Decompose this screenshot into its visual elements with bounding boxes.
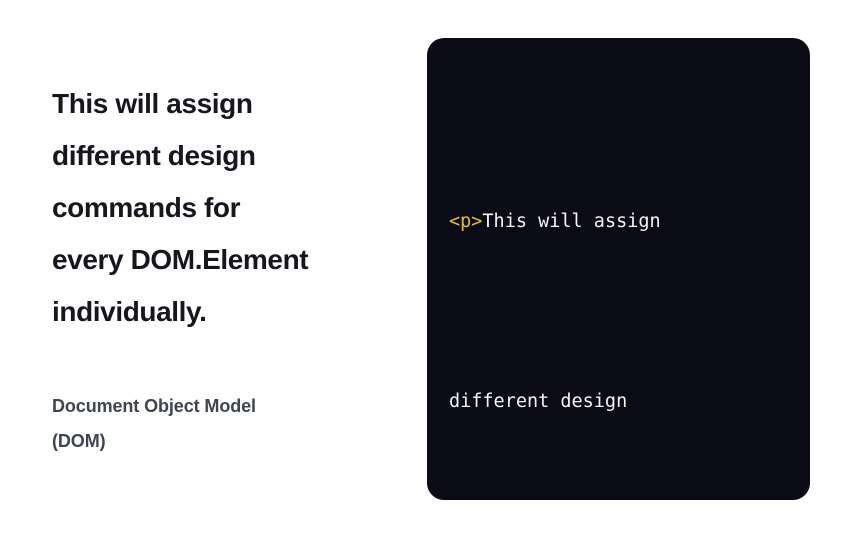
code-text: This will assign xyxy=(482,211,660,232)
left-text-column: This will assign different design comman… xyxy=(52,78,392,459)
code-block: <p>This will assign different design com… xyxy=(449,64,790,500)
code-text: different design xyxy=(449,391,627,412)
slide-canvas: This will assign different design comman… xyxy=(0,0,864,540)
code-panel: <p>This will assign different design com… xyxy=(427,38,810,500)
page-title: This will assign different design comman… xyxy=(52,78,392,338)
code-line: <p>This will assign xyxy=(449,199,790,244)
code-line: different design xyxy=(449,379,790,424)
page-subtitle: Document Object Model (DOM) xyxy=(52,338,392,459)
html-open-tag: <p> xyxy=(449,211,482,232)
